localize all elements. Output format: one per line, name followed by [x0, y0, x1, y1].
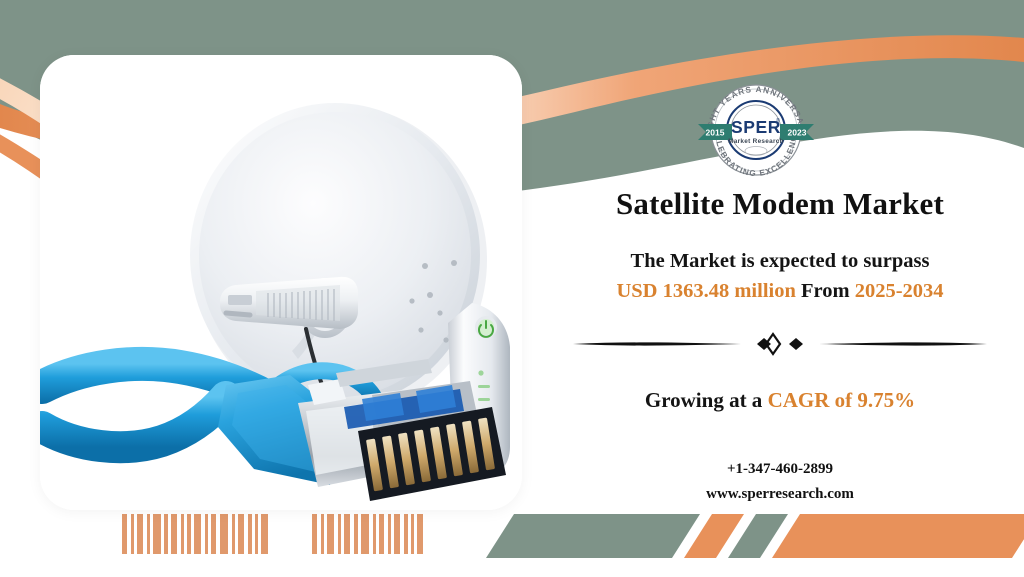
registered-mark-icon: ® — [776, 117, 780, 124]
highlight-line-1: The Market is expected to surpass — [545, 246, 1015, 277]
svg-text:2015: 2015 — [706, 128, 725, 138]
logo-tagline: Market Research — [728, 138, 784, 145]
bottom-right-bar-group — [486, 514, 1024, 558]
logo-ribbon-right: 2023 — [780, 124, 814, 140]
poster-canvas: EIGHT YEARS ANNIVERSARY CELEBRATING EXCE… — [0, 0, 1024, 577]
logo-ribbon-left: 2015 — [698, 124, 732, 140]
content-column: Satellite Modem Market The Market is exp… — [545, 186, 1015, 507]
contact-website[interactable]: www.sperresearch.com — [545, 482, 1015, 507]
bar-sage-large — [486, 514, 700, 558]
logo-wordmark: SPER — [731, 117, 781, 137]
highlight-line-2: USD 1363.48 million From 2025-2034 — [545, 276, 1015, 307]
product-photo-card — [40, 55, 522, 510]
ornamental-divider — [545, 331, 1015, 357]
contact-block: +1-347-460-2899 www.sperresearch.com — [545, 457, 1015, 507]
svg-text:2023: 2023 — [788, 128, 807, 138]
market-highlight: The Market is expected to surpass USD 13… — [545, 246, 1015, 308]
sper-logo-badge[interactable]: EIGHT YEARS ANNIVERSARY CELEBRATING EXCE… — [694, 78, 818, 182]
market-value: USD 1363.48 million — [616, 280, 795, 302]
satellite-dish-illustration — [40, 55, 522, 510]
forecast-period: 2025-2034 — [855, 280, 944, 302]
page-title: Satellite Modem Market — [545, 186, 1015, 222]
lnb-feed-horn — [220, 277, 358, 329]
cagr-statement: Growing at a CAGR of 9.75% — [545, 388, 1015, 413]
cagr-prefix: Growing at a — [645, 388, 762, 412]
bar-orange-large — [772, 514, 1024, 558]
contact-phone[interactable]: +1-347-460-2899 — [545, 457, 1015, 482]
cagr-value: CAGR of 9.75% — [768, 388, 916, 412]
barcode-decoration — [122, 514, 423, 554]
highlight-connector: From — [801, 280, 850, 302]
